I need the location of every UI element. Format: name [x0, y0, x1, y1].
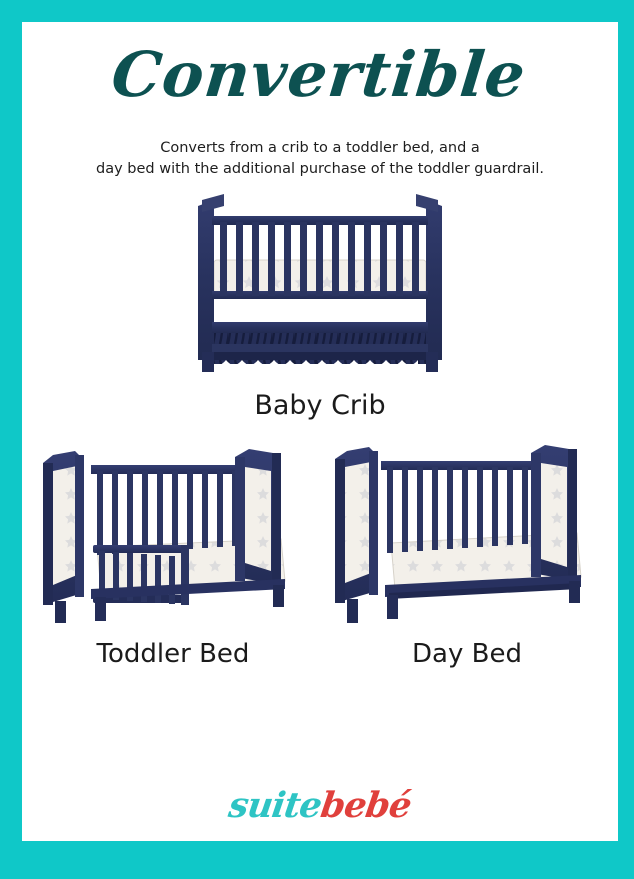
brand-logo-suite: suite — [227, 788, 324, 823]
product-row-top: Baby Crib — [22, 192, 618, 419]
product-label-toddler-bed: Toddler Bed — [97, 641, 250, 667]
product-label-baby-crib: Baby Crib — [254, 392, 385, 419]
poster-content: Convertible Converts from a crib to a to… — [22, 22, 618, 841]
subtitle-line-1: Converts from a crib to a toddler bed, a… — [22, 138, 618, 159]
subtitle-line-2: day bed with the additional purchase of … — [22, 159, 618, 180]
product-baby-crib: Baby Crib — [184, 192, 456, 419]
product-label-day-bed: Day Bed — [412, 641, 522, 667]
day-bed-icon — [329, 435, 605, 631]
product-row-bottom: Toddler Bed — [22, 435, 618, 667]
baby-crib-icon — [184, 192, 456, 384]
poster-frame: Convertible Converts from a crib to a to… — [0, 0, 634, 879]
subtitle: Converts from a crib to a toddler bed, a… — [22, 138, 618, 180]
product-toddler-bed: Toddler Bed — [35, 435, 311, 667]
brand-logo-bebe: bebé — [319, 788, 413, 823]
product-day-bed: Day Bed — [329, 435, 605, 667]
toddler-bed-icon — [35, 435, 311, 631]
brand-logo: suitebebé — [22, 788, 618, 823]
page-title: Convertible — [22, 22, 618, 106]
